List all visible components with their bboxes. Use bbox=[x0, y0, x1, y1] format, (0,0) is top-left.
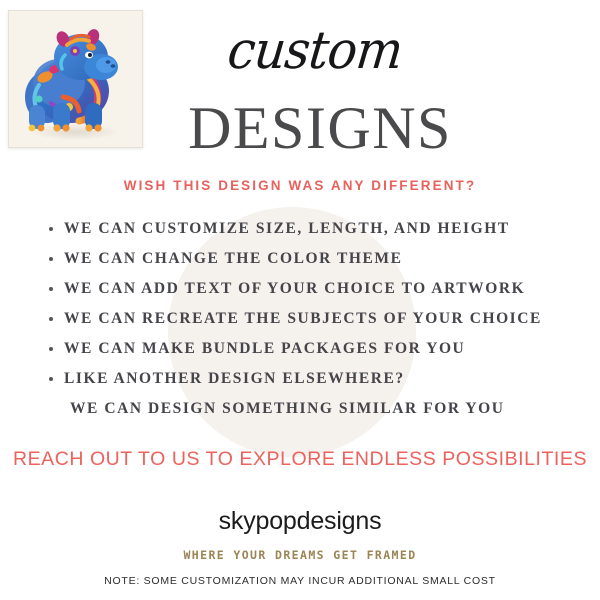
list-item-label: WE CAN ADD TEXT OF YOUR CHOICE TO ARTWOR… bbox=[64, 280, 525, 297]
list-item-label: WE CAN MAKE BUNDLE PACKAGES FOR YOU bbox=[64, 340, 465, 357]
list-item: WE CAN ADD TEXT OF YOUR CHOICE TO ARTWOR… bbox=[44, 274, 584, 304]
headline-script-custom: custom bbox=[147, 25, 482, 77]
bullet-dot-icon bbox=[49, 377, 53, 381]
benefits-list: WE CAN CUSTOMIZE SIZE, LENGTH, AND HEIGH… bbox=[44, 214, 584, 424]
bullet-dot-icon bbox=[49, 317, 53, 321]
list-item: WE CAN CHANGE THE COLOR THEME bbox=[44, 244, 584, 274]
footer-note: NOTE: SOME CUSTOMIZATION MAY INCUR ADDIT… bbox=[0, 575, 600, 587]
brand-name: skypopdesigns bbox=[0, 507, 600, 536]
list-item-label: WE CAN CUSTOMIZE SIZE, LENGTH, AND HEIGH… bbox=[64, 220, 510, 237]
bullet-dot-icon bbox=[49, 287, 53, 291]
list-item-label: WE CAN CHANGE THE COLOR THEME bbox=[64, 250, 403, 267]
subheading-question: WISH THIS DESIGN WAS ANY DIFFERENT? bbox=[0, 178, 600, 193]
list-item: LIKE ANOTHER DESIGN ELSEWHERE? bbox=[44, 364, 584, 394]
list-item: WE CAN RECREATE THE SUBJECTS OF YOUR CHO… bbox=[44, 304, 584, 334]
bullet-dot-icon bbox=[49, 347, 53, 351]
bullet-dot-icon bbox=[49, 257, 53, 261]
list-item-label: WE CAN RECREATE THE SUBJECTS OF YOUR CHO… bbox=[64, 310, 542, 327]
call-to-action-text: REACH OUT TO US TO EXPLORE ENDLESS POSSI… bbox=[0, 448, 600, 471]
list-item: WE CAN CUSTOMIZE SIZE, LENGTH, AND HEIGH… bbox=[44, 214, 584, 244]
custom-designs-poster: custom DESIGNS WISH THIS DESIGN WAS ANY … bbox=[0, 0, 600, 600]
list-item-continuation: WE CAN DESIGN SOMETHING SIMILAR FOR YOU bbox=[44, 394, 584, 424]
list-item: WE CAN MAKE BUNDLE PACKAGES FOR YOU bbox=[44, 334, 584, 364]
page-title-designs: DESIGNS bbox=[120, 98, 520, 158]
list-item-label: LIKE ANOTHER DESIGN ELSEWHERE? bbox=[64, 370, 405, 387]
list-item-label: WE CAN DESIGN SOMETHING SIMILAR FOR YOU bbox=[70, 400, 505, 417]
brand-tagline: WHERE YOUR DREAMS GET FRAMED bbox=[0, 548, 600, 562]
bullet-dot-icon bbox=[49, 227, 53, 231]
